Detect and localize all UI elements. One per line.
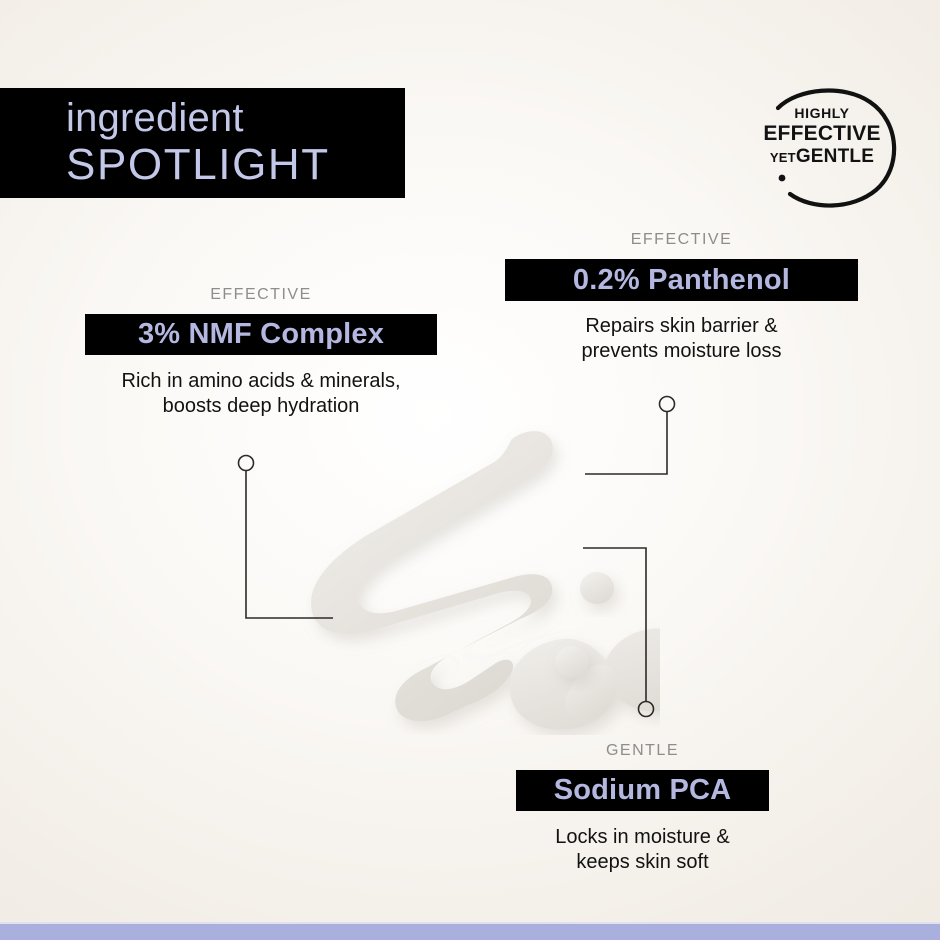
ingredient-card-sodium-pca: GENTLE Sodium PCA Locks in moisture & ke… [516,742,769,875]
page-title: ingredient SPOTLIGHT [0,88,405,198]
badge-line-1: HIGHLY [758,106,886,120]
badge-line-3-large: GENTLE [796,146,874,167]
ingredient-card-panthenol: EFFECTIVE 0.2% Panthenol Repairs skin ba… [505,231,858,364]
connector-panthenol [585,397,675,475]
ingredient-description: Repairs skin barrier & prevents moisture… [505,314,858,364]
ingredient-card-nmf-complex: EFFECTIVE 3% NMF Complex Rich in amino a… [85,286,437,419]
ingredient-name-bar: 0.2% Panthenol [505,259,858,301]
ingredient-name-bar: Sodium PCA [516,770,769,811]
page-title-line-1: ingredient [66,96,405,140]
bottom-accent-band [0,924,940,940]
ingredient-spotlight-graphic: ingredient SPOTLIGHT HIGHLY EFFECTIVE YE… [0,0,940,940]
page-title-line-2: SPOTLIGHT [66,140,405,190]
ingredient-kicker: EFFECTIVE [85,286,437,304]
ingredient-name-bar: 3% NMF Complex [85,314,437,355]
badge-line-3: YETGENTLE [758,147,886,166]
connector-sodium-pca [583,548,654,717]
ingredient-kicker: GENTLE [516,742,769,760]
ingredient-description: Locks in moisture & keeps skin soft [516,825,769,875]
ingredient-kicker: EFFECTIVE [505,231,858,249]
badge-text: HIGHLY EFFECTIVE YETGENTLE [758,106,886,166]
ingredient-description: Rich in amino acids & minerals, boosts d… [85,369,437,419]
connector-nmf [239,456,334,619]
highly-effective-yet-gentle-badge: HIGHLY EFFECTIVE YETGENTLE [752,86,904,214]
badge-line-2: EFFECTIVE [758,123,886,144]
badge-line-3-small: YET [770,150,796,165]
